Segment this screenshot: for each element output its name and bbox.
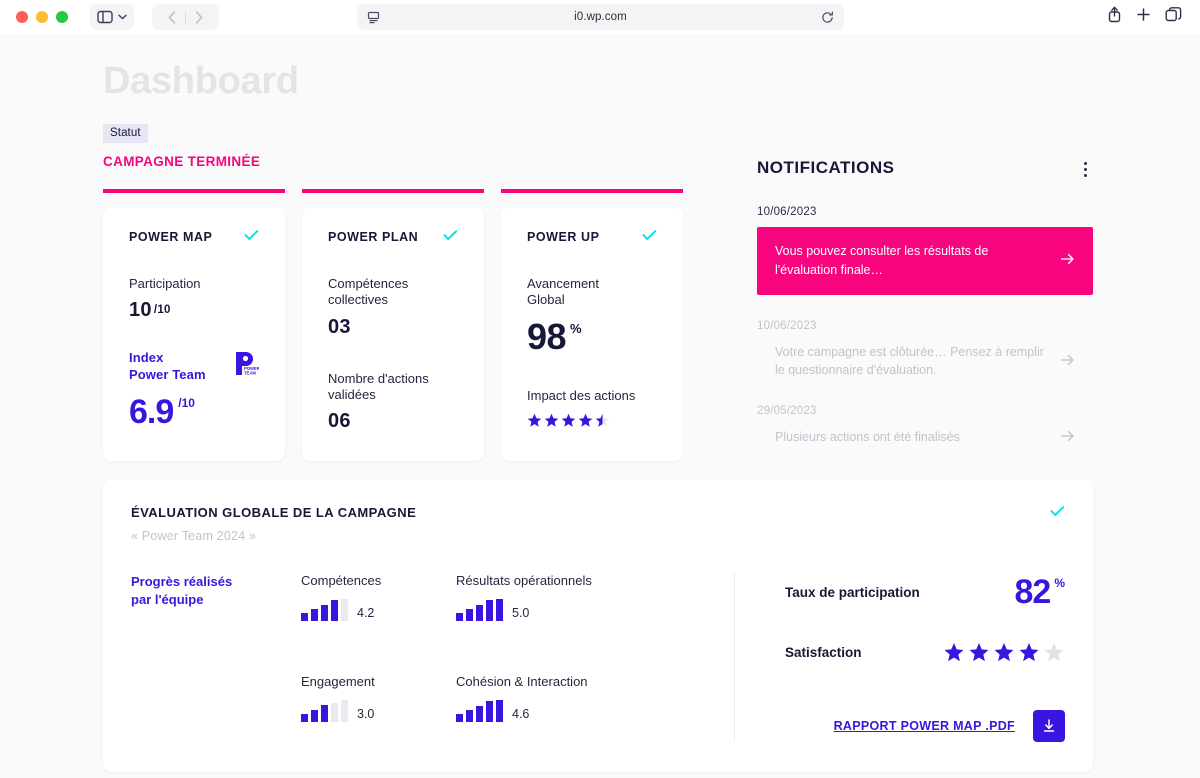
card-power-up[interactable]: POWER UP Avancement Global 98% Imp — [501, 207, 683, 461]
competences-value: 03 — [328, 316, 458, 339]
metric-grid: Compétences 4.2 Résultats opérationnels — [301, 573, 706, 742]
power-team-logo: POWER TEAM — [233, 350, 259, 378]
notification-date: 29/05/2023 — [757, 405, 1093, 417]
notifications-header: NOTIFICATIONS — [757, 158, 1093, 181]
accent-bar-power-up — [501, 189, 683, 193]
download-icon — [1041, 718, 1057, 734]
browser-window: i0.wp.com — [0, 0, 1200, 778]
competences-label: Compétences collectives — [328, 276, 458, 309]
url-text: i0.wp.com — [380, 11, 821, 23]
evaluation-body: Progrès réalisés par l'équipe Compétence… — [131, 573, 1065, 742]
notification-item-highlighted[interactable]: Vous pouvez consulter les résultats de l… — [757, 227, 1093, 295]
participation-rate-value: 82% — [1015, 573, 1066, 612]
metric-label: Résultats opérationnels — [456, 573, 706, 588]
star-icon — [527, 413, 542, 428]
browser-toolbar: i0.wp.com — [0, 0, 1200, 34]
notification-item[interactable]: Votre campagne est clôturée… Pensez à re… — [757, 343, 1093, 381]
participation-value: 10/10 — [129, 299, 259, 322]
impact-star-rating — [527, 413, 657, 428]
accent-bar-power-map — [103, 189, 285, 193]
sidebar-toggle-button[interactable] — [90, 4, 134, 30]
arrow-right-icon — [1060, 353, 1075, 370]
card-power-plan[interactable]: POWER PLAN Compétences collectives 03 No… — [302, 207, 484, 461]
close-window-button[interactable] — [16, 11, 28, 23]
avancement-value: 98% — [527, 316, 657, 358]
star-icon — [544, 413, 559, 428]
back-chevron-icon — [168, 11, 176, 24]
evaluation-title: ÉVALUATION GLOBALE DE LA CAMPAGNE — [131, 505, 416, 520]
plus-icon — [1136, 7, 1151, 22]
evaluation-summary: Taux de participation 82% Satisfaction — [735, 573, 1065, 742]
avancement-label: Avancement Global — [527, 276, 657, 309]
notification-text: Plusieurs actions ont été finalisés — [775, 428, 1050, 447]
bar-group — [301, 700, 348, 722]
star-icon — [561, 413, 576, 428]
arrow-right-icon — [1060, 252, 1075, 269]
dashboard-page: Dashboard Statut CAMPAGNE TERMINÉE POWER… — [0, 34, 1200, 778]
accent-bar-power-plan — [302, 189, 484, 193]
tab-overview-icon — [1165, 7, 1182, 23]
satisfaction-star-rating — [943, 642, 1065, 663]
tab-overview-button[interactable] — [1165, 7, 1182, 28]
page-title: Dashboard — [103, 34, 1097, 100]
card-power-map[interactable]: POWER MAP Participation 10/10 — [103, 207, 285, 461]
back-button[interactable] — [159, 5, 185, 29]
new-tab-button[interactable] — [1136, 7, 1151, 27]
index-label: Index Power Team — [129, 350, 206, 383]
index-row: Index Power Team 6.9/10 — [129, 350, 259, 432]
card-title: POWER PLAN — [328, 230, 418, 244]
star-icon — [943, 642, 965, 663]
window-controls[interactable] — [10, 11, 68, 23]
star-icon — [993, 642, 1015, 663]
metric-label: Compétences — [301, 573, 456, 588]
star-empty-icon — [1043, 642, 1065, 663]
satisfaction-row: Satisfaction — [785, 642, 1065, 663]
star-icon — [968, 642, 990, 663]
kpi-cards: POWER MAP Participation 10/10 — [103, 207, 683, 461]
metric-value: 3.0 — [357, 707, 374, 722]
download-button[interactable] — [1033, 710, 1065, 742]
arrow-right-icon — [1060, 429, 1075, 446]
star-icon — [1018, 642, 1040, 663]
reload-icon[interactable] — [821, 11, 834, 24]
card-header: POWER MAP — [129, 229, 259, 244]
notifications-panel: NOTIFICATIONS 10/06/2023 Vous pouvez con… — [757, 100, 1093, 461]
share-button[interactable] — [1107, 6, 1122, 28]
metric-bars: 4.6 — [456, 700, 706, 722]
metric-bars: 4.2 — [301, 599, 456, 621]
card-header: POWER UP — [527, 229, 657, 244]
notification-date: 10/06/2023 — [757, 206, 1093, 218]
actions-value: 06 — [328, 410, 458, 433]
card-accent-bars — [103, 189, 683, 193]
check-icon — [443, 229, 458, 244]
toolbar-actions — [1107, 6, 1190, 28]
left-column: Statut CAMPAGNE TERMINÉE POWER MAP — [103, 100, 683, 461]
check-icon — [1050, 505, 1065, 520]
satisfaction-label: Satisfaction — [785, 645, 862, 660]
metric-competences: Compétences 4.2 — [301, 573, 456, 641]
reader-view-icon[interactable] — [367, 11, 380, 24]
notification-date: 10/06/2023 — [757, 320, 1093, 332]
metric-value: 4.6 — [512, 707, 529, 722]
check-icon — [244, 229, 259, 244]
evaluation-panel: ÉVALUATION GLOBALE DE LA CAMPAGNE « Powe… — [103, 479, 1093, 772]
notifications-title: NOTIFICATIONS — [757, 158, 894, 178]
evaluation-subtitle: « Power Team 2024 » — [131, 529, 416, 543]
status-badge: CAMPAGNE TERMINÉE — [103, 154, 683, 169]
report-download-row: RAPPORT POWER MAP .PDF — [785, 710, 1065, 742]
share-icon — [1107, 6, 1122, 23]
sidebar-icon — [97, 10, 113, 24]
index-value: 6.9/10 — [129, 393, 206, 432]
metric-value: 4.2 — [357, 606, 374, 621]
bar-group — [301, 599, 348, 621]
metric-engagement: Engagement 3.0 — [301, 674, 456, 742]
actions-label: Nombre d'actions validées — [328, 371, 458, 404]
star-icon — [578, 413, 593, 428]
chevron-down-icon — [118, 14, 127, 20]
check-icon — [642, 229, 657, 244]
forward-chevron-icon — [195, 11, 203, 24]
participation-rate-label: Taux de participation — [785, 585, 920, 600]
metric-label: Cohésion & Interaction — [456, 674, 706, 689]
impact-label: Impact des actions — [527, 388, 657, 404]
metric-bars: 5.0 — [456, 599, 706, 621]
participation-label: Participation — [129, 276, 259, 292]
participation-row: Taux de participation 82% — [785, 573, 1065, 612]
notification-item[interactable]: Plusieurs actions ont été finalisés — [757, 428, 1093, 447]
metric-label: Engagement — [301, 674, 456, 689]
metric-resultats: Résultats opérationnels 5.0 — [456, 573, 706, 641]
notification-text: Vous pouvez consulter les résultats de l… — [775, 242, 1050, 280]
metric-bars: 3.0 — [301, 700, 456, 722]
maximize-window-button[interactable] — [56, 11, 68, 23]
bar-group — [456, 700, 503, 722]
metric-value: 5.0 — [512, 606, 529, 621]
kebab-menu-icon[interactable] — [1078, 158, 1093, 181]
evaluation-header: ÉVALUATION GLOBALE DE LA CAMPAGNE « Powe… — [131, 505, 1065, 543]
forward-button[interactable] — [186, 5, 212, 29]
notification-text: Votre campagne est clôturée… Pensez à re… — [775, 343, 1050, 381]
progress-chart: Progrès réalisés par l'équipe Compétence… — [131, 573, 706, 742]
dashboard-columns: Statut CAMPAGNE TERMINÉE POWER MAP — [103, 100, 1097, 461]
navigation-buttons — [152, 4, 219, 30]
card-title: POWER MAP — [129, 230, 212, 244]
metric-cohesion: Cohésion & Interaction 4.6 — [456, 674, 706, 742]
star-half-icon — [595, 413, 610, 428]
status-label: Statut — [103, 124, 148, 143]
card-header: POWER PLAN — [328, 229, 458, 244]
progress-label: Progrès réalisés par l'équipe — [131, 573, 301, 742]
minimize-window-button[interactable] — [36, 11, 48, 23]
address-bar[interactable]: i0.wp.com — [357, 4, 844, 30]
svg-text:TEAM: TEAM — [244, 371, 256, 376]
card-title: POWER UP — [527, 230, 599, 244]
bar-group — [456, 599, 503, 621]
report-link[interactable]: RAPPORT POWER MAP .PDF — [834, 719, 1015, 733]
